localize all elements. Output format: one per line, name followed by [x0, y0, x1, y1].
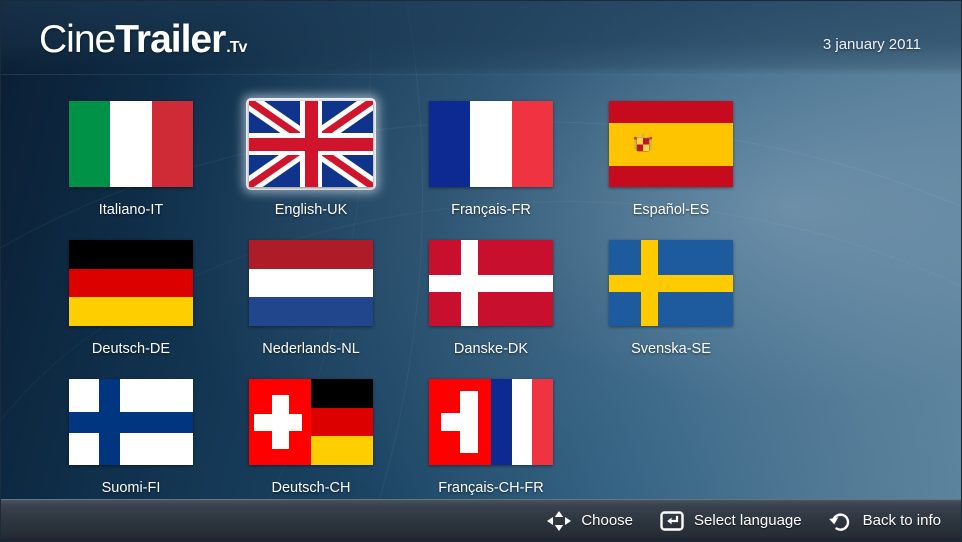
language-option-se[interactable]: Svenska-SE	[581, 232, 761, 357]
language-option-es[interactable]: Español-ES	[581, 93, 761, 218]
back-arrow-icon	[828, 509, 854, 533]
language-option-ch-fr[interactable]: Français-CH-FR	[401, 371, 581, 496]
logo-text-tv: .Tv	[226, 39, 246, 56]
language-option-de[interactable]: Deutsch-DE	[41, 232, 221, 357]
app-logo: CineTrailer.Tv	[39, 18, 246, 62]
language-option-it[interactable]: Italiano-IT	[41, 93, 221, 218]
flag-graphic	[609, 240, 733, 326]
flag-graphic	[429, 101, 553, 187]
language-grid: Italiano-ITEnglish-UKFrançais-FREspañol-…	[41, 93, 923, 510]
language-option-nl[interactable]: Nederlands-NL	[221, 232, 401, 357]
flag-tile[interactable]	[606, 237, 736, 329]
footer-hint-bar: ChooseSelect languageBack to info	[1, 499, 962, 541]
logo-text-trailer: Trailer	[115, 18, 225, 61]
flag-graphic	[69, 379, 193, 465]
language-label: Français-FR	[451, 202, 531, 218]
language-selection-screen: CineTrailer.Tv 3 january 2011 Italiano-I…	[0, 0, 962, 542]
footer-hint-back-to-info[interactable]: Back to info	[828, 509, 941, 533]
language-option-uk[interactable]: English-UK	[221, 93, 401, 218]
flag-tile-selected[interactable]	[246, 98, 376, 190]
language-option-ch-de[interactable]: Deutsch-CH	[221, 371, 401, 496]
footer-hint-label: Select language	[694, 512, 802, 529]
footer-hint-label: Back to info	[863, 512, 941, 529]
flag-tile[interactable]	[246, 237, 376, 329]
dpad-arrows-icon	[546, 509, 572, 533]
language-option-fr[interactable]: Français-FR	[401, 93, 581, 218]
flag-tile[interactable]	[606, 98, 736, 190]
flag-tile[interactable]	[66, 376, 196, 468]
language-option-dk[interactable]: Danske-DK	[401, 232, 581, 357]
language-label: English-UK	[275, 202, 348, 218]
flag-graphic	[429, 240, 553, 326]
current-date: 3 january 2011	[823, 36, 921, 53]
header-bar: CineTrailer.Tv 3 january 2011	[1, 1, 962, 75]
language-label: Deutsch-CH	[272, 480, 351, 496]
spain-coat-of-arms-icon	[633, 132, 653, 157]
flag-graphic	[249, 240, 373, 326]
logo-text-cine: Cine	[39, 18, 115, 61]
language-label: Deutsch-DE	[92, 341, 170, 357]
flag-graphic	[69, 101, 193, 187]
flag-graphic	[69, 240, 193, 326]
flag-tile[interactable]	[66, 98, 196, 190]
language-label: Suomi-FI	[102, 480, 161, 496]
flag-tile[interactable]	[426, 98, 556, 190]
language-label: Español-ES	[633, 202, 710, 218]
flag-tile[interactable]	[246, 376, 376, 468]
language-option-fi[interactable]: Suomi-FI	[41, 371, 221, 496]
flag-tile[interactable]	[426, 376, 556, 468]
language-label: Français-CH-FR	[438, 480, 544, 496]
enter-key-icon	[659, 509, 685, 533]
flag-tile[interactable]	[66, 237, 196, 329]
flag-graphic	[609, 101, 733, 187]
footer-hint-select-language[interactable]: Select language	[659, 509, 802, 533]
language-label: Svenska-SE	[631, 341, 711, 357]
flag-graphic	[249, 379, 373, 465]
flag-graphic	[249, 101, 373, 187]
language-label: Nederlands-NL	[262, 341, 360, 357]
language-label: Italiano-IT	[99, 202, 163, 218]
language-label: Danske-DK	[454, 341, 528, 357]
flag-tile[interactable]	[426, 237, 556, 329]
footer-hint-choose[interactable]: Choose	[546, 509, 633, 533]
flag-graphic	[429, 379, 553, 465]
footer-hint-label: Choose	[581, 512, 633, 529]
